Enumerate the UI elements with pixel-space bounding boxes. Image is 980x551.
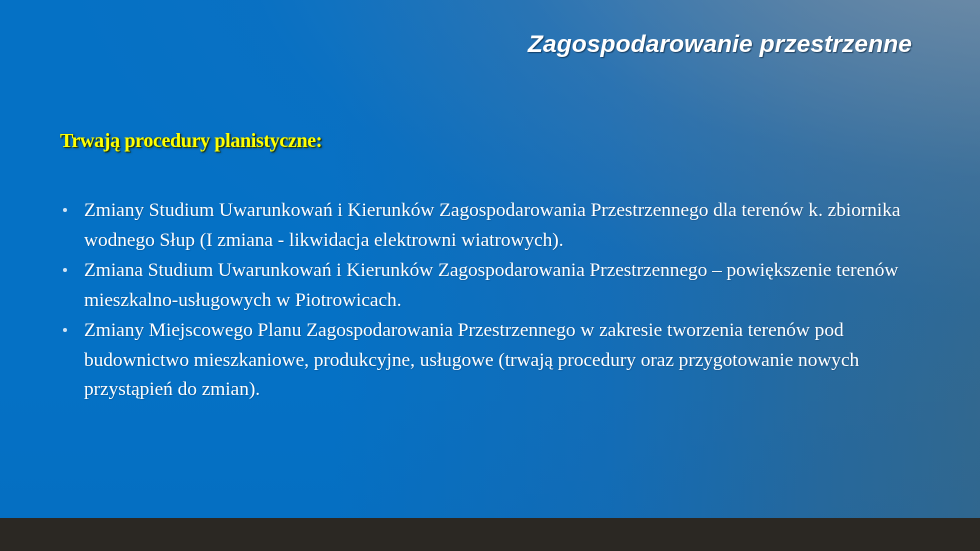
bullet-dot-icon [63, 328, 67, 332]
lead-heading: Trwają procedury planistyczne: [60, 130, 322, 153]
slide-content: Zagospodarowanie przestrzenne Trwają pro… [0, 0, 980, 551]
list-item-text: Zmiany Studium Uwarunkowań i Kierunków Z… [84, 200, 900, 251]
list-item: Zmiany Studium Uwarunkowań i Kierunków Z… [58, 196, 930, 255]
presentation-slide: Zagospodarowanie przestrzenne Trwają pro… [0, 0, 980, 551]
bullet-dot-icon [63, 208, 67, 212]
list-item-text: Zmiany Miejscowego Planu Zagospodarowani… [84, 320, 859, 400]
list-item: Zmiana Studium Uwarunkowań i Kierunków Z… [58, 256, 930, 315]
footer-bar [0, 518, 980, 551]
slide-title: Zagospodarowanie przestrzenne [528, 31, 912, 59]
list-item: Zmiany Miejscowego Planu Zagospodarowani… [58, 316, 930, 405]
bullet-list: Zmiany Studium Uwarunkowań i Kierunków Z… [58, 196, 930, 406]
list-item-text: Zmiana Studium Uwarunkowań i Kierunków Z… [84, 260, 898, 311]
bullet-dot-icon [63, 268, 67, 272]
